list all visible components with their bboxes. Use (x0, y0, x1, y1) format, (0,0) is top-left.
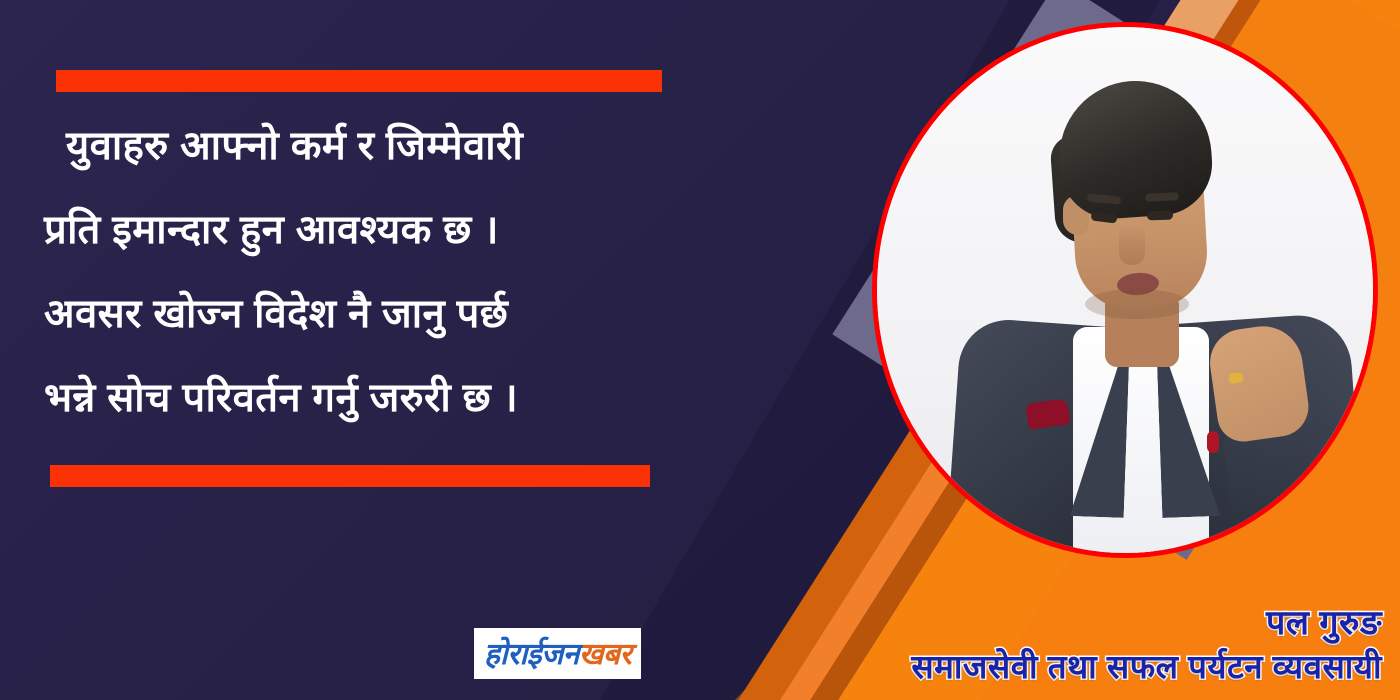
quote-card: युवाहरु आफ्नो कर्म र जिम्मेवारी प्रति इम… (0, 0, 1400, 700)
quote-line-3: अवसर खोज्न विदेश नै जानु पर्छ (44, 272, 704, 356)
portrait-nose (1119, 223, 1145, 265)
quote-text-block: युवाहरु आफ्नो कर्म र जिम्मेवारी प्रति इम… (44, 104, 704, 440)
accent-bar-bottom (50, 465, 650, 487)
portrait-lapel-pin (1207, 431, 1219, 453)
site-logo[interactable]: होराईजन खबर (474, 628, 641, 679)
portrait-figure (877, 27, 1373, 553)
nameplate: पल गुरुङ समाजसेवी तथा सफल पर्यटन व्यवसाय… (911, 604, 1382, 686)
logo-text-secondary: खबर (579, 632, 631, 673)
quote-line-1: युवाहरु आफ्नो कर्म र जिम्मेवारी (44, 104, 704, 188)
portrait-chin-shadow (1085, 289, 1189, 319)
portrait-photo (872, 22, 1378, 558)
person-title: समाजसेवी तथा सफल पर्यटन व्यवसायी (911, 648, 1382, 686)
portrait-eye-right (1147, 211, 1173, 221)
logo-text-primary: होराईजन (484, 632, 579, 673)
portrait-ring-jewelry (1228, 372, 1243, 384)
quote-line-4: भन्ने सोच परिवर्तन गर्नु जरुरी छ । (44, 356, 704, 440)
accent-bar-top (56, 70, 662, 92)
quote-line-2: प्रति इमान्दार हुन आवश्यक छ । (44, 188, 704, 272)
person-name: पल गुरुङ (911, 604, 1382, 643)
